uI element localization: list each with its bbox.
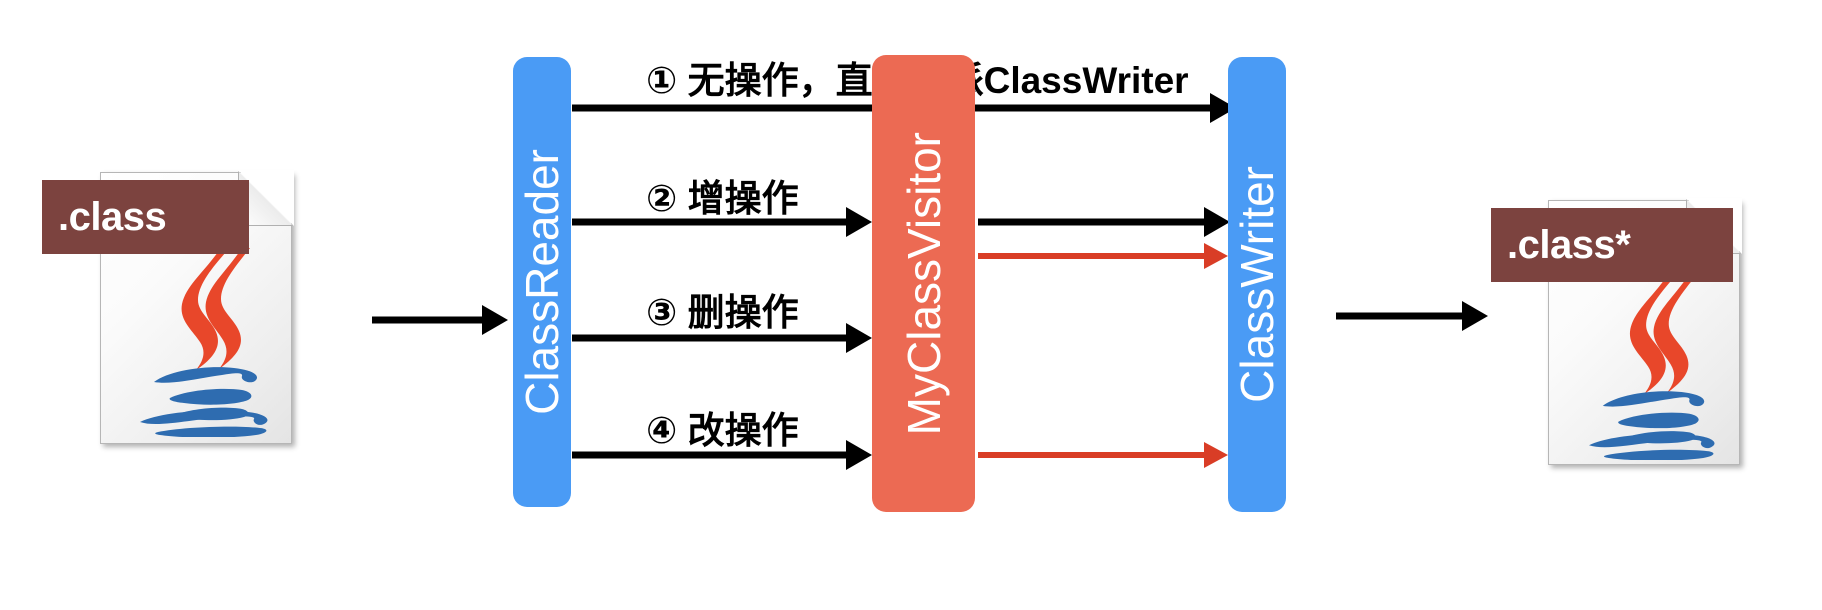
pillar-classwriter[interactable]: ClassWriter xyxy=(1228,57,1286,512)
pillar-myclassvisitor[interactable]: MyClassVisitor xyxy=(872,55,975,512)
step-4-label: ④ 改操作 xyxy=(646,400,799,454)
java-logo-icon xyxy=(1578,268,1728,460)
pillar-classreader[interactable]: ClassReader xyxy=(513,57,571,507)
pillar-classwriter-label: ClassWriter xyxy=(1230,166,1284,403)
step-3-label: ③ 删操作 xyxy=(646,282,799,336)
output-file-badge: .class* xyxy=(1491,208,1733,282)
output-class-file-icon: .class* xyxy=(1548,200,1740,465)
pillar-classreader-label: ClassReader xyxy=(515,149,569,415)
diagram-canvas: .class ClassReader ① 无操作，直接委派ClassWriter… xyxy=(0,0,1822,610)
input-file-badge: .class xyxy=(42,180,249,254)
step-2-label: ② 增操作 xyxy=(646,168,799,222)
java-logo-icon xyxy=(130,242,280,437)
input-class-file-icon: .class xyxy=(100,172,292,444)
pillar-myclassvisitor-label: MyClassVisitor xyxy=(897,132,951,435)
